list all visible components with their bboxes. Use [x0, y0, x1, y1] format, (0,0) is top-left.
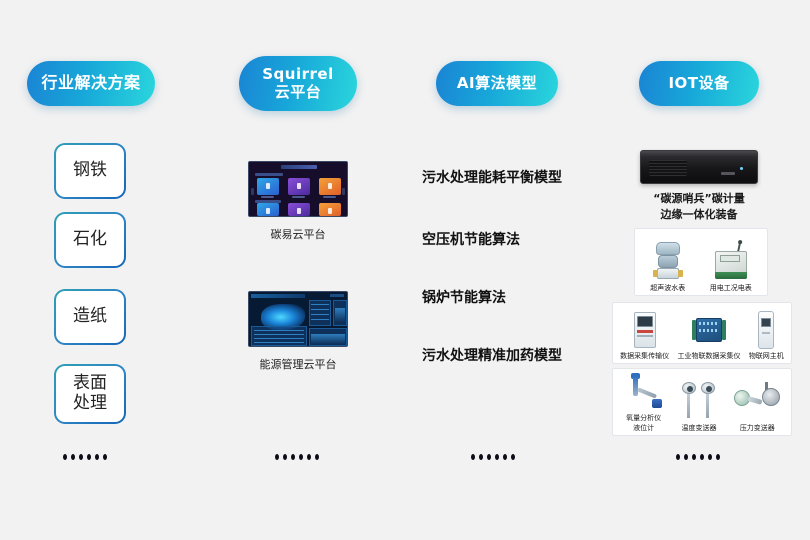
more-dot	[283, 454, 287, 460]
column-header-iot-devices[interactable]: IOT设备	[639, 61, 759, 106]
rackmount-edge-server-icon	[640, 150, 758, 184]
platform-caption: 能源管理云平台	[248, 356, 348, 372]
pill-label-line: 行业解决方案	[41, 74, 140, 92]
more-dot	[95, 454, 99, 460]
more-dot	[103, 454, 107, 460]
more-dot	[299, 454, 303, 460]
more-dot	[479, 454, 483, 460]
more-dot	[495, 454, 499, 460]
more-dot	[487, 454, 491, 460]
more-indicator-industry	[63, 454, 107, 460]
more-indicator-ai	[471, 454, 515, 460]
pressure-transmitter-icon	[734, 380, 780, 422]
more-dot	[275, 454, 279, 460]
iot-hero-device[interactable]: “碳源哨兵”碳计量 边缘一体化装备	[640, 150, 758, 223]
oxygen-analyzer-level-meter-icon	[624, 373, 664, 412]
more-dot	[63, 454, 67, 460]
more-dot	[503, 454, 507, 460]
more-dot	[291, 454, 295, 460]
industry-item-label: 造纸	[73, 307, 107, 327]
platform-card-carbon-cloud[interactable]: 碳易云平台	[248, 161, 348, 242]
iot-device-ultrasonic-water-meter[interactable]: 超声波水表	[650, 233, 685, 293]
iot-device-label: 温度变送器	[681, 424, 716, 433]
more-dot	[79, 454, 83, 460]
iot-device-label: 用电工况电表	[710, 284, 752, 293]
column-header-ai-algorithm-models[interactable]: AI算法模型	[436, 61, 558, 106]
more-dot	[676, 454, 680, 460]
pill-label-line: AI算法模型	[457, 75, 537, 92]
more-indicator-cloud	[275, 454, 319, 460]
iot-device-label: 物联网主机	[749, 352, 784, 361]
ai-model-item[interactable]: 污水处理精准加药模型	[422, 345, 562, 365]
more-dot	[511, 454, 515, 460]
ai-model-item[interactable]: 锅炉节能算法	[422, 287, 506, 307]
more-dot	[684, 454, 688, 460]
carbon-cloud-dashboard-image	[248, 161, 348, 217]
more-dot	[87, 454, 91, 460]
industry-item-surface-treatment[interactable]: 表面 处理	[54, 364, 126, 424]
industry-item-petrochemical[interactable]: 石化	[54, 212, 126, 268]
more-dot	[471, 454, 475, 460]
industry-item-label: 钢铁	[73, 161, 107, 181]
iot-device-industrial-iot-collector[interactable]: 工业物联数据采集仪	[677, 307, 740, 361]
more-dot	[692, 454, 696, 460]
more-dot	[71, 454, 75, 460]
column-header-industry-solutions[interactable]: 行业解决方案	[27, 61, 155, 106]
iot-device-pressure-transmitter[interactable]: 压力变送器	[734, 373, 780, 433]
platform-card-energy-management[interactable]: 能源管理云平台	[248, 291, 348, 372]
more-dot	[716, 454, 720, 460]
ai-model-item[interactable]: 污水处理能耗平衡模型	[422, 167, 562, 187]
more-dot	[708, 454, 712, 460]
column-header-squirrel-cloud[interactable]: Squirrel 云平台	[239, 56, 357, 111]
pill-label-line: 云平台	[275, 84, 322, 101]
iot-device-temperature-transmitter[interactable]: 温度变送器	[679, 373, 719, 433]
iot-device-label: 氧量分析仪 液位计	[626, 414, 661, 433]
iot-device-group-instruments: 氧量分析仪 液位计 温度变送器 压力变送器	[612, 368, 792, 436]
iot-device-group-meters: 超声波水表 用电工况电表	[634, 228, 768, 296]
iot-hero-caption: “碳源哨兵”碳计量 边缘一体化装备	[640, 191, 758, 223]
more-indicator-iot	[676, 454, 720, 460]
industrial-io-module-icon	[692, 310, 726, 350]
platform-caption: 碳易云平台	[248, 226, 348, 242]
iot-device-iot-host[interactable]: 物联网主机	[749, 307, 784, 361]
iot-device-oxygen-analyzer-level-meter[interactable]: 氧量分析仪 液位计	[624, 373, 664, 433]
industry-item-label: 石化	[73, 230, 107, 250]
pill-label-line: IOT设备	[668, 75, 729, 92]
iot-device-label: 压力变送器	[740, 424, 775, 433]
solution-architecture-diagram: 行业解决方案 Squirrel 云平台 AI算法模型 IOT设备 钢铁 石化 造…	[0, 0, 810, 540]
more-dot	[307, 454, 311, 460]
temperature-transmitter-icon	[679, 380, 719, 422]
iot-device-group-acquisition: 数据采集传输仪 工业物联数据采集仪 物联网主机	[612, 302, 792, 364]
more-dot	[700, 454, 704, 460]
industry-item-papermaking[interactable]: 造纸	[54, 289, 126, 345]
ultrasonic-water-meter-icon	[653, 242, 683, 282]
iot-device-data-acquisition-transmitter[interactable]: 数据采集传输仪	[620, 307, 669, 361]
industry-item-steel[interactable]: 钢铁	[54, 143, 126, 199]
iot-device-label: 工业物联数据采集仪	[677, 352, 740, 361]
power-condition-meter-icon	[712, 242, 750, 282]
iot-hero-caption-line: “碳源哨兵”碳计量	[640, 191, 758, 207]
iot-device-power-condition-meter[interactable]: 用电工况电表	[710, 233, 752, 293]
pill-label-line: Squirrel	[262, 66, 333, 83]
iot-host-terminal-icon	[755, 310, 777, 350]
industry-item-label: 表面 处理	[73, 374, 107, 413]
iot-device-label: 数据采集传输仪	[620, 352, 669, 361]
data-acquisition-cabinet-icon	[632, 310, 658, 350]
more-dot	[315, 454, 319, 460]
iot-hero-caption-line: 边缘一体化装备	[640, 207, 758, 223]
iot-device-label: 超声波水表	[650, 284, 685, 293]
energy-management-dashboard-image	[248, 291, 348, 347]
ai-model-item[interactable]: 空压机节能算法	[422, 229, 520, 249]
